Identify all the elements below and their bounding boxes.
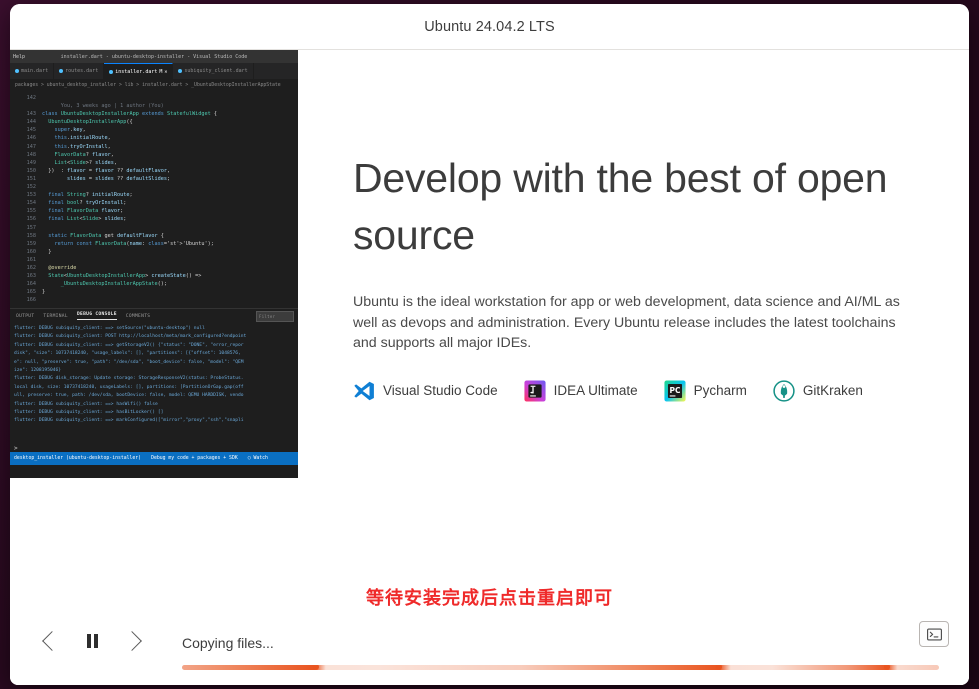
code-line-text: return const FlavorData(name: class='st'… — [42, 240, 214, 248]
vscode-tab-routes-dart: routes.dart — [54, 63, 104, 79]
code-line-number: 157 — [10, 224, 42, 232]
code-line: 143class UbuntuDesktopInstallerApp exten… — [10, 110, 298, 118]
dart-file-icon — [59, 69, 63, 73]
code-line-number: 155 — [10, 207, 42, 215]
intellij-idea-icon — [524, 380, 546, 402]
next-slide-button[interactable] — [112, 621, 152, 661]
gitkraken-icon — [773, 380, 795, 402]
console-line: flutter: DEBUG subiquity_client: POST ht… — [14, 333, 294, 341]
code-line: 160 } — [10, 248, 298, 256]
vscode-console-prompt: > — [10, 445, 298, 452]
code-line-text: } — [42, 248, 51, 256]
code-line-number: 143 — [10, 110, 42, 118]
code-line-number: 153 — [10, 191, 42, 199]
code-line: 161 — [10, 256, 298, 264]
terminal-icon — [927, 628, 942, 641]
code-line-number: 160 — [10, 248, 42, 256]
code-line-text: final List<Slide> slides; — [42, 215, 126, 223]
code-line-number: 163 — [10, 272, 42, 280]
code-line-number: 156 — [10, 215, 42, 223]
code-line-text: final bool? tryOrInstall; — [42, 199, 126, 207]
slide-text-block: Develop with the best of open source Ubu… — [353, 150, 933, 402]
vscode-editor-tabs: main.dart routes.dart installer.dart M ✕ — [10, 63, 298, 79]
app-item-pycharm: PC Pycharm — [664, 380, 747, 402]
code-line-number: 144 — [10, 118, 42, 126]
tab-label: main.dart — [21, 68, 48, 74]
vscode-panel-tabs: OUTPUT TERMINAL DEBUG CONSOLE COMMENTS F… — [10, 308, 298, 323]
code-line: 165} — [10, 288, 298, 296]
code-line: 155 final FlavorData flavor; — [10, 207, 298, 215]
vscode-window-title: installer.dart - ubuntu-desktop-installe… — [10, 54, 298, 60]
code-line: 162 @override — [10, 264, 298, 272]
vscode-menubar: Help installer.dart - ubuntu-desktop-ins… — [10, 50, 298, 63]
dart-file-icon — [178, 69, 182, 73]
slideshow-controls — [32, 621, 152, 661]
tab-close-icon: ✕ — [164, 69, 167, 75]
panel-tab-output: OUTPUT — [16, 314, 34, 319]
vscode-tab-installer-dart: installer.dart M ✕ — [104, 63, 173, 79]
code-line: 148 FlavorData? flavor, — [10, 151, 298, 159]
code-line: 150 }) : flavor = flavor ?? defaultFlavo… — [10, 167, 298, 175]
code-line-text: List<Slide>? slides, — [42, 159, 117, 167]
code-line-text: _UbuntuDesktopInstallerAppState(); — [42, 280, 167, 288]
code-line-number: 154 — [10, 199, 42, 207]
pycharm-icon: PC — [664, 380, 686, 402]
tab-label: routes.dart — [65, 68, 98, 74]
vscode-breadcrumb: packages > ubuntu_desktop_installer > li… — [10, 79, 298, 92]
app-label: GitKraken — [803, 383, 863, 398]
console-line: local disk, size: 10737418240, usageLabe… — [14, 384, 294, 392]
code-line-number: 165 — [10, 288, 42, 296]
pause-slideshow-button[interactable] — [72, 621, 112, 661]
vscode-icon — [353, 380, 375, 402]
console-line: ize": 1208195046} — [14, 367, 294, 375]
window-titlebar: Ubuntu 24.04.2 LTS — [10, 4, 969, 50]
code-line-text: @override — [42, 264, 76, 272]
code-line-number: 142 — [10, 94, 42, 102]
console-line: flutter: DEBUG subiquity_client: ==> mar… — [14, 417, 294, 425]
code-line: 157 — [10, 224, 298, 232]
panel-tab-comments: COMMENTS — [126, 314, 151, 319]
app-label: Pycharm — [694, 383, 747, 398]
code-line: 163 State<UbuntuDesktopInstallerApp> cre… — [10, 272, 298, 280]
status-watch: ◯ Watch — [248, 456, 268, 461]
code-line-number: 149 — [10, 159, 42, 167]
vscode-code-editor: 142 You, 3 weeks ago | 1 author (You)143… — [10, 92, 298, 308]
restart-notice-text: 等待安装完成后点击重启即可 — [10, 584, 969, 610]
previous-slide-button[interactable] — [32, 621, 72, 661]
code-line: 151 slides = slides ?? defaultSlides; — [10, 175, 298, 183]
code-line: 145 super.key, — [10, 126, 298, 134]
code-line-text: You, 3 weeks ago | 1 author (You) — [42, 102, 164, 110]
installer-bottom-bar: Copying files... — [10, 613, 969, 685]
code-line-number: 148 — [10, 151, 42, 159]
code-line-number: 159 — [10, 240, 42, 248]
pause-icon — [87, 634, 98, 648]
code-line: 164 _UbuntuDesktopInstallerAppState(); — [10, 280, 298, 288]
tab-label: installer.dart — [115, 69, 157, 75]
slide-heading: Develop with the best of open source — [353, 150, 933, 264]
code-line-number: 166 — [10, 296, 42, 304]
code-line: 158 static FlavorData get defaultFlavor … — [10, 232, 298, 240]
code-line: 147 this.tryOrInstall, — [10, 143, 298, 151]
code-line-number: 147 — [10, 143, 42, 151]
code-line-number: 158 — [10, 232, 42, 240]
code-line-number: 161 — [10, 256, 42, 264]
code-line: 142 — [10, 94, 298, 102]
console-line: disk", "size": 10737418240, "usage_label… — [14, 350, 294, 358]
code-line-number: 145 — [10, 126, 42, 134]
code-line-text: FlavorData? flavor, — [42, 151, 114, 159]
vscode-tab-main-dart: main.dart — [10, 63, 54, 79]
chevron-left-icon — [42, 631, 62, 651]
svg-text:PC: PC — [669, 385, 680, 394]
vscode-status-bar: desktop_installer (ubuntu-desktop-instal… — [10, 452, 298, 465]
code-line-text: } — [42, 288, 45, 296]
app-item-gitkraken: GitKraken — [773, 380, 863, 402]
tab-label: subiquity_client.dart — [184, 68, 247, 74]
code-line-text: this.tryOrInstall, — [42, 143, 111, 151]
window-title: Ubuntu 24.04.2 LTS — [424, 19, 555, 35]
code-line-text: class UbuntuDesktopInstallerApp extends … — [42, 110, 217, 118]
status-watch-label: Watch — [254, 456, 268, 461]
app-label: IDEA Ultimate — [554, 383, 638, 398]
vscode-tab-subiquity-client-dart: subiquity_client.dart — [173, 63, 253, 79]
code-line: 153 final String? initialRoute; — [10, 191, 298, 199]
code-line: 154 final bool? tryOrInstall; — [10, 199, 298, 207]
code-line-number: 151 — [10, 175, 42, 183]
console-line: flutter: DEBUG subiquity_client: ==> has… — [14, 401, 294, 409]
code-line: 156 final List<Slide> slides; — [10, 215, 298, 223]
code-line-text: static FlavorData get defaultFlavor { — [42, 232, 164, 240]
app-item-idea-ultimate: IDEA Ultimate — [524, 380, 638, 402]
code-line: 149 List<Slide>? slides, — [10, 159, 298, 167]
code-line-text: State<UbuntuDesktopInstallerApp> createS… — [42, 272, 201, 280]
code-line: You, 3 weeks ago | 1 author (You) — [10, 102, 298, 110]
console-line: flutter: DEBUG subiquity_client: ==> get… — [14, 342, 294, 350]
progress-dot — [313, 665, 319, 670]
slide-body-text: Ubuntu is the ideal workstation for app … — [353, 292, 923, 354]
code-line-number: 164 — [10, 280, 42, 288]
status-debug-mode: Debug my code + packages + SDK — [151, 456, 238, 461]
panel-tab-debug-console: DEBUG CONSOLE — [77, 312, 117, 320]
code-line: 152 — [10, 183, 298, 191]
code-line-text: final String? initialRoute; — [42, 191, 133, 199]
chevron-right-icon — [122, 631, 142, 651]
installation-progress-bar — [182, 665, 939, 670]
progress-indeterminate-fill — [182, 665, 939, 670]
show-terminal-button[interactable] — [919, 621, 949, 647]
vscode-screenshot: Help installer.dart - ubuntu-desktop-ins… — [10, 50, 298, 478]
console-line: flutter: DEBUG subiquity_client: ==> has… — [14, 409, 294, 417]
status-debug-target: desktop_installer (ubuntu-desktop-instal… — [14, 456, 141, 461]
app-label: Visual Studio Code — [383, 383, 498, 398]
console-line: flutter: DEBUG disk_storage: Update stor… — [14, 375, 294, 383]
code-line: 146 this.initialRoute, — [10, 134, 298, 142]
panel-tab-terminal: TERMINAL — [43, 314, 68, 319]
code-line-number — [10, 102, 42, 110]
console-line: ull, preserve: true, path: /dev/sda, boo… — [14, 392, 294, 400]
desktop-background: Ubuntu 24.04.2 LTS Help installer.dart -… — [0, 0, 979, 689]
code-line: 159 return const FlavorData(name: class=… — [10, 240, 298, 248]
app-logo-list: Visual Studio Code — [353, 380, 933, 402]
dart-file-icon — [109, 70, 113, 74]
tab-modified-indicator: M — [159, 69, 162, 75]
slide-content-area: Help installer.dart - ubuntu-desktop-ins… — [10, 50, 969, 685]
installation-status-label: Copying files... — [182, 635, 274, 651]
code-line-number: 150 — [10, 167, 42, 175]
code-line-text: }) : flavor = flavor ?? defaultFlavor, — [42, 167, 170, 175]
code-line-number: 152 — [10, 183, 42, 191]
code-line-text: UbuntuDesktopInstallerApp({ — [42, 118, 133, 126]
console-line: flutter: DEBUG subiquity_client: ==> set… — [14, 325, 294, 333]
console-line: e": null, "preserve": true, "path": "/de… — [14, 359, 294, 367]
code-line: 166 — [10, 296, 298, 304]
code-line-number: 146 — [10, 134, 42, 142]
code-line-text: final FlavorData flavor; — [42, 207, 123, 215]
code-line-number: 162 — [10, 264, 42, 272]
code-line-text: this.initialRoute, — [42, 134, 111, 142]
code-line-text: slides = slides ?? defaultSlides; — [42, 175, 170, 183]
panel-filter-input: Filter — [256, 311, 294, 322]
dart-file-icon — [15, 69, 19, 73]
code-line: 144 UbuntuDesktopInstallerApp({ — [10, 118, 298, 126]
vscode-debug-console-output: flutter: DEBUG subiquity_client: ==> set… — [10, 323, 298, 445]
installer-window: Ubuntu 24.04.2 LTS Help installer.dart -… — [10, 4, 969, 685]
code-line-text: super.key, — [42, 126, 86, 134]
app-item-visual-studio-code: Visual Studio Code — [353, 380, 498, 402]
